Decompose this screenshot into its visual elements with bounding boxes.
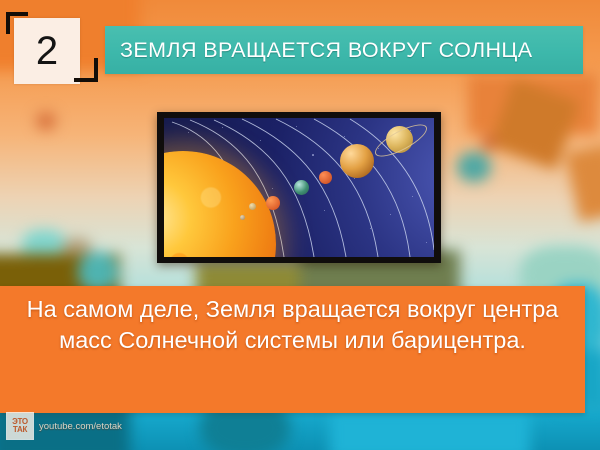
- caption-band: На самом деле, Земля вращается вокруг це…: [0, 286, 585, 413]
- planet-venus: [249, 203, 256, 210]
- logo-line-2: ТАК: [13, 426, 27, 434]
- bokeh-shape: [565, 144, 600, 222]
- caption-text: На самом деле, Земля вращается вокруг це…: [0, 286, 585, 356]
- slide-canvas: 2 ЗЕМЛЯ ВРАЩАЕТСЯ ВОКРУГ СОЛНЦА: [0, 0, 600, 450]
- illustration-container: [157, 112, 441, 263]
- watermark-url: youtube.com/etotak: [39, 421, 122, 432]
- planet-small-red: [319, 171, 332, 184]
- etotak-logo-icon: ЭТО ТАК: [6, 412, 34, 440]
- bokeh-shape: [457, 152, 491, 182]
- decor-bracket-bottom-right: [74, 58, 98, 82]
- planet-earth: [294, 180, 309, 195]
- planet-jupiter: [340, 144, 374, 178]
- title-banner: ЗЕМЛЯ ВРАЩАЕТСЯ ВОКРУГ СОЛНЦА: [105, 26, 583, 74]
- solar-system-image: [164, 118, 434, 257]
- slide-title: ЗЕМЛЯ ВРАЩАЕТСЯ ВОКРУГ СОЛНЦА: [105, 38, 532, 63]
- slide-number-badge: 2: [14, 18, 80, 84]
- planet-mars: [266, 196, 280, 210]
- bokeh-shape: [481, 135, 497, 151]
- bokeh-shape: [36, 112, 56, 130]
- bokeh-shape: [330, 410, 530, 450]
- slide-number: 2: [36, 31, 58, 71]
- watermark[interactable]: ЭТО ТАК youtube.com/etotak: [6, 412, 122, 440]
- illustration-frame: [157, 112, 441, 263]
- planet-mercury: [240, 215, 245, 220]
